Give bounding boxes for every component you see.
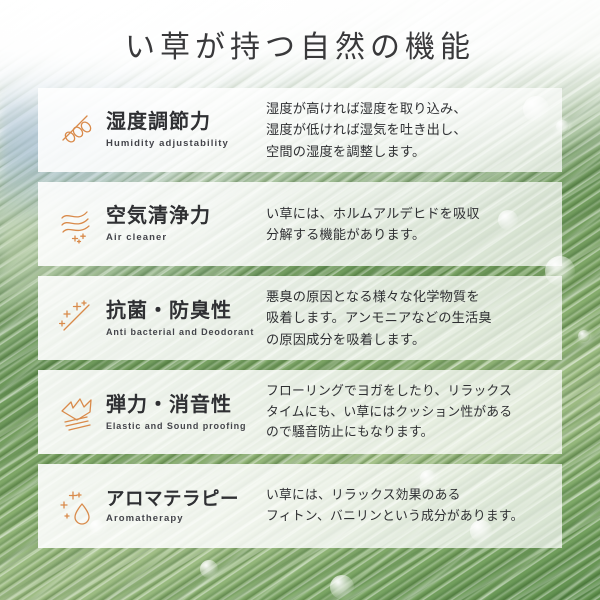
card-description-line: 悪臭の原因となる様々な化学物質を xyxy=(266,286,554,307)
card-description-line: ので騒音防止にもなります。 xyxy=(266,422,554,443)
bounce-cushion-icon xyxy=(54,391,102,433)
feature-card-air-cleaner[interactable]: 空気清浄力 Air cleaner い草には、ホルムアルデヒドを吸収 分解する機… xyxy=(38,182,562,266)
card-heading-block: 湿度調節力 Humidity adjustability xyxy=(38,109,266,151)
card-labels: アロマテラピー Aromatherapy xyxy=(102,488,239,524)
water-droplet-bokeh xyxy=(200,560,218,578)
card-labels: 空気清浄力 Air cleaner xyxy=(102,205,211,243)
card-title-en: Air cleaner xyxy=(106,232,211,243)
aroma-droplet-icon xyxy=(54,485,102,527)
feature-card-elastic[interactable]: 弾力・消音性 Elastic and Sound proofing フローリング… xyxy=(38,370,562,454)
card-heading-block: 抗菌・防臭性 Anti bacterial and Deodorant xyxy=(38,297,266,339)
water-droplet-bokeh xyxy=(578,330,590,342)
card-labels: 抗菌・防臭性 Anti bacterial and Deodorant xyxy=(102,300,254,337)
water-droplet-bokeh xyxy=(330,575,354,599)
card-description-line: 湿度が高ければ湿度を取り込み、 xyxy=(266,98,554,119)
card-description: フローリングでヨガをしたり、リラックス タイムにも、い草にはクッション性がある … xyxy=(266,381,562,443)
humidity-droplets-icon xyxy=(54,109,102,151)
card-description-line: の原因成分を吸着します。 xyxy=(266,329,554,350)
card-description-line: い草には、リラックス効果のある xyxy=(266,485,554,506)
card-heading-block: 弾力・消音性 Elastic and Sound proofing xyxy=(38,391,266,433)
card-description: い草には、ホルムアルデヒドを吸収 分解する機能があります。 xyxy=(266,203,562,246)
card-title-en: Humidity adjustability xyxy=(106,138,229,149)
card-description: い草には、リラックス効果のある フィトン、バニリンという成分があります。 xyxy=(266,485,562,526)
card-description-line: タイムにも、い草にはクッション性がある xyxy=(266,402,554,423)
feature-card-aromatherapy[interactable]: アロマテラピー Aromatherapy い草には、リラックス効果のある フィト… xyxy=(38,464,562,548)
card-heading-block: 空気清浄力 Air cleaner xyxy=(38,203,266,245)
card-title-en: Elastic and Sound proofing xyxy=(106,421,246,431)
card-title-en: Aromatherapy xyxy=(106,513,239,524)
card-description-line: フローリングでヨガをしたり、リラックス xyxy=(266,381,554,402)
feature-infographic: い草が持つ自然の機能 湿度調節力 Humidity adjustability xyxy=(0,0,600,600)
card-title-ja: 空気清浄力 xyxy=(106,205,211,228)
sparkle-wand-icon xyxy=(54,297,102,339)
card-description: 湿度が高ければ湿度を取り込み、 湿度が低ければ湿気を吐き出し、 空間の湿度を調整… xyxy=(266,98,562,162)
card-description-line: 空間の湿度を調整します。 xyxy=(266,141,554,162)
card-description-line: 分解する機能があります。 xyxy=(266,224,554,245)
card-title-ja: 抗菌・防臭性 xyxy=(106,300,254,323)
card-title-en: Anti bacterial and Deodorant xyxy=(106,327,254,337)
card-description: 悪臭の原因となる様々な化学物質を 吸着します。アンモニアなどの生活臭 の原因成分… xyxy=(266,286,562,350)
card-title-ja: 湿度調節力 xyxy=(106,111,229,134)
card-description-line: 吸着します。アンモニアなどの生活臭 xyxy=(266,307,554,328)
card-description-line: い草には、ホルムアルデヒドを吸収 xyxy=(266,203,554,224)
feature-card-antibacterial[interactable]: 抗菌・防臭性 Anti bacterial and Deodorant 悪臭の原… xyxy=(38,276,562,360)
card-labels: 湿度調節力 Humidity adjustability xyxy=(102,111,229,149)
card-description-line: フィトン、バニリンという成分があります。 xyxy=(266,506,554,527)
card-title-ja: アロマテラピー xyxy=(106,488,239,509)
air-waves-icon xyxy=(54,203,102,245)
feature-card-humidity[interactable]: 湿度調節力 Humidity adjustability 湿度が高ければ湿度を取… xyxy=(38,88,562,172)
card-description-line: 湿度が低ければ湿気を吐き出し、 xyxy=(266,119,554,140)
card-title-ja: 弾力・消音性 xyxy=(106,394,246,417)
feature-card-list: 湿度調節力 Humidity adjustability 湿度が高ければ湿度を取… xyxy=(38,88,562,548)
card-heading-block: アロマテラピー Aromatherapy xyxy=(38,485,266,527)
card-labels: 弾力・消音性 Elastic and Sound proofing xyxy=(102,394,246,431)
page-title: い草が持つ自然の機能 xyxy=(0,22,600,66)
